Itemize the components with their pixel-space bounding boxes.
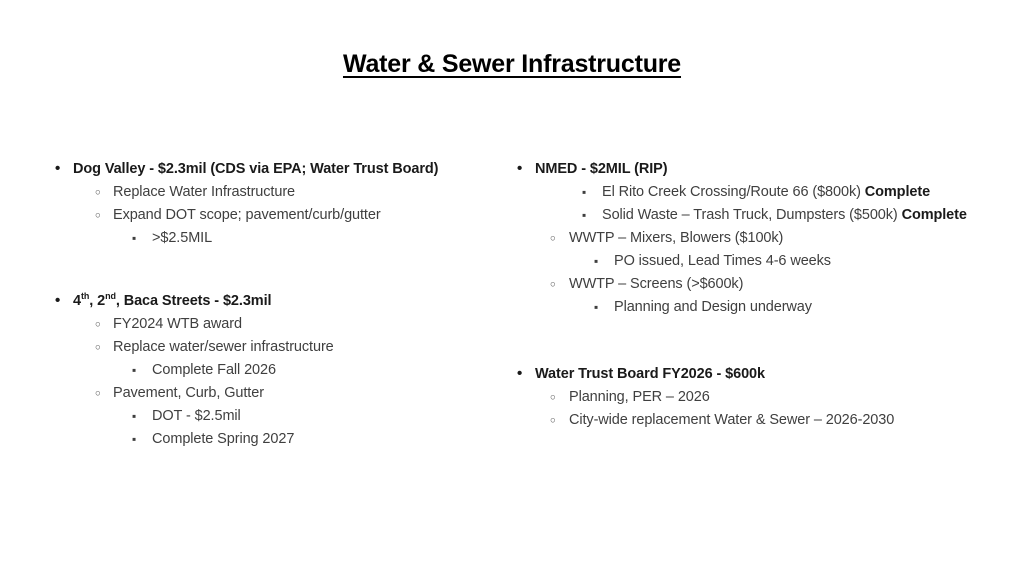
bullet-level3-complete-fall-2026: Complete Fall 2026 <box>50 359 500 382</box>
bullet-level3-planning-design-underway: Planning and Design underway <box>512 296 1012 319</box>
bullet-level1-water-trust-board: Water Trust Board FY2026 - $600k <box>512 363 1012 386</box>
slide-canvas: Water & Sewer Infrastructure Dog Valley … <box>0 0 1024 576</box>
bullet-level2-replace-water-sewer: Replace water/sewer infrastructure <box>50 336 500 359</box>
bullet-level2-expand-dot-scope: Expand DOT scope; pavement/curb/gutter <box>50 204 500 227</box>
bullet-level2-wwtp-screens: WWTP – Screens (>$600k) <box>512 273 1012 296</box>
bullet-level2-citywide-replacement: City-wide replacement Water & Sewer – 20… <box>512 409 1012 432</box>
bullet-level3-over-2-5-mil: >$2.5MIL <box>50 227 500 250</box>
bullet-group-nmed: NMED - $2MIL (RIP) El Rito Creek Crossin… <box>512 158 1012 319</box>
bullet-level3-dot-2-5-mil: DOT - $2.5mil <box>50 405 500 428</box>
bullet-level2-wwtp-mixers-blowers: WWTP – Mixers, Blowers ($100k) <box>512 227 1012 250</box>
bullet-level3-el-rito-creek: El Rito Creek Crossing/Route 66 ($800k) … <box>512 181 1012 204</box>
bullet-level3-po-issued: PO issued, Lead Times 4-6 weeks <box>512 250 1012 273</box>
bullet-group-dog-valley: Dog Valley - $2.3mil (CDS via EPA; Water… <box>50 158 500 250</box>
el-rito-creek-text: El Rito Creek Crossing/Route 66 ($800k) <box>602 184 865 200</box>
bullet-group-baca-streets: 4th, 2nd, Baca Streets - $2.3mil FY2024 … <box>50 290 500 451</box>
bullet-level3-solid-waste: Solid Waste – Trash Truck, Dumpsters ($5… <box>512 204 1012 227</box>
status-badge-solid-waste: Complete <box>902 207 967 223</box>
bullet-level1-nmed: NMED - $2MIL (RIP) <box>512 158 1012 181</box>
bullet-level2-pavement-curb-gutter: Pavement, Curb, Gutter <box>50 382 500 405</box>
superscript-th: th <box>81 291 89 301</box>
bullet-level2-replace-water-infrastructure: Replace Water Infrastructure <box>50 181 500 204</box>
bullet-level2-fy2024-wtb-award: FY2024 WTB award <box>50 313 500 336</box>
superscript-nd: nd <box>105 291 116 301</box>
bullet-level2-planning-per-2026: Planning, PER – 2026 <box>512 386 1012 409</box>
page-title-text: Water & Sewer Infrastructure <box>343 50 681 78</box>
bullet-level1-dog-valley: Dog Valley - $2.3mil (CDS via EPA; Water… <box>50 158 500 181</box>
left-column: Dog Valley - $2.3mil (CDS via EPA; Water… <box>50 158 500 451</box>
solid-waste-text: Solid Waste – Trash Truck, Dumpsters ($5… <box>602 207 902 223</box>
bullet-group-water-trust-board: Water Trust Board FY2026 - $600k Plannin… <box>512 363 1012 432</box>
status-badge-el-rito: Complete <box>865 184 930 200</box>
page-title: Water & Sewer Infrastructure <box>0 50 1024 79</box>
right-column: NMED - $2MIL (RIP) El Rito Creek Crossin… <box>512 158 1012 432</box>
bullet-level3-complete-spring-2027: Complete Spring 2027 <box>50 428 500 451</box>
bullet-level1-baca-streets: 4th, 2nd, Baca Streets - $2.3mil <box>50 290 500 313</box>
